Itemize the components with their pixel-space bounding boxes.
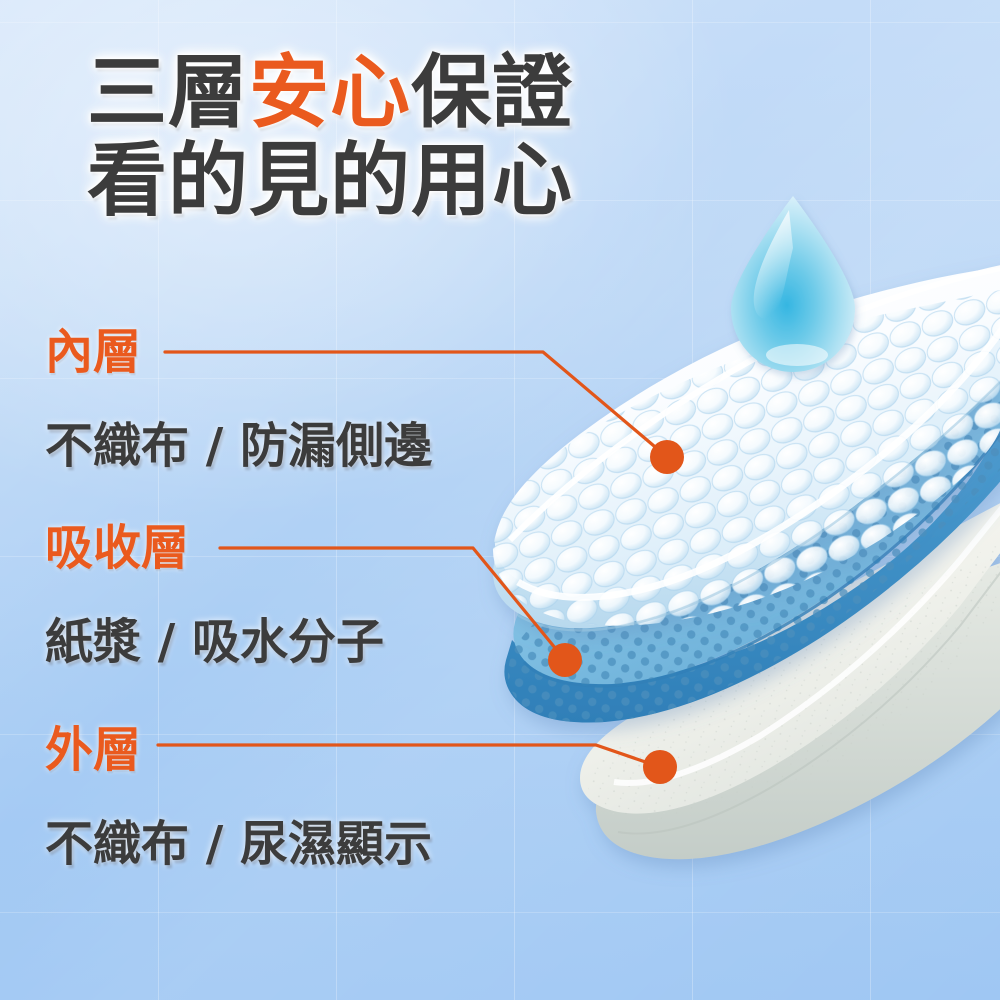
headline-line1-accent: 安心 xyxy=(249,46,411,139)
layer-label-outer: 外層 不織布 / 尿濕顯示 xyxy=(45,726,432,868)
infographic-canvas: 三層安心保證 看的見的用心 內層 不織布 / 防漏側邊 吸收層 紙漿 / 吸水分… xyxy=(0,0,1000,1000)
layer-heading-inner: 內層 xyxy=(45,328,432,376)
layer-heading-outer: 外層 xyxy=(45,726,432,774)
layer-heading-absorbent: 吸收層 xyxy=(45,524,384,572)
headline-line-2: 看的見的用心 xyxy=(0,140,660,222)
layer-subtitle-inner: 不織布 / 防漏側邊 xyxy=(45,422,432,470)
headline-line1-part1: 三層 xyxy=(87,46,249,139)
layer-subtitle-absorbent: 紙漿 / 吸水分子 xyxy=(45,618,384,666)
headline-line1-part2: 保證 xyxy=(411,46,573,139)
layer-label-absorbent: 吸收層 紙漿 / 吸水分子 xyxy=(45,524,384,666)
layer-subtitle-outer: 不織布 / 尿濕顯示 xyxy=(45,820,432,868)
layer-label-inner: 內層 不織布 / 防漏側邊 xyxy=(45,328,432,470)
water-droplet-icon xyxy=(731,196,855,372)
headline-block: 三層安心保證 看的見的用心 xyxy=(0,52,660,223)
headline-line-1: 三層安心保證 xyxy=(0,52,660,134)
